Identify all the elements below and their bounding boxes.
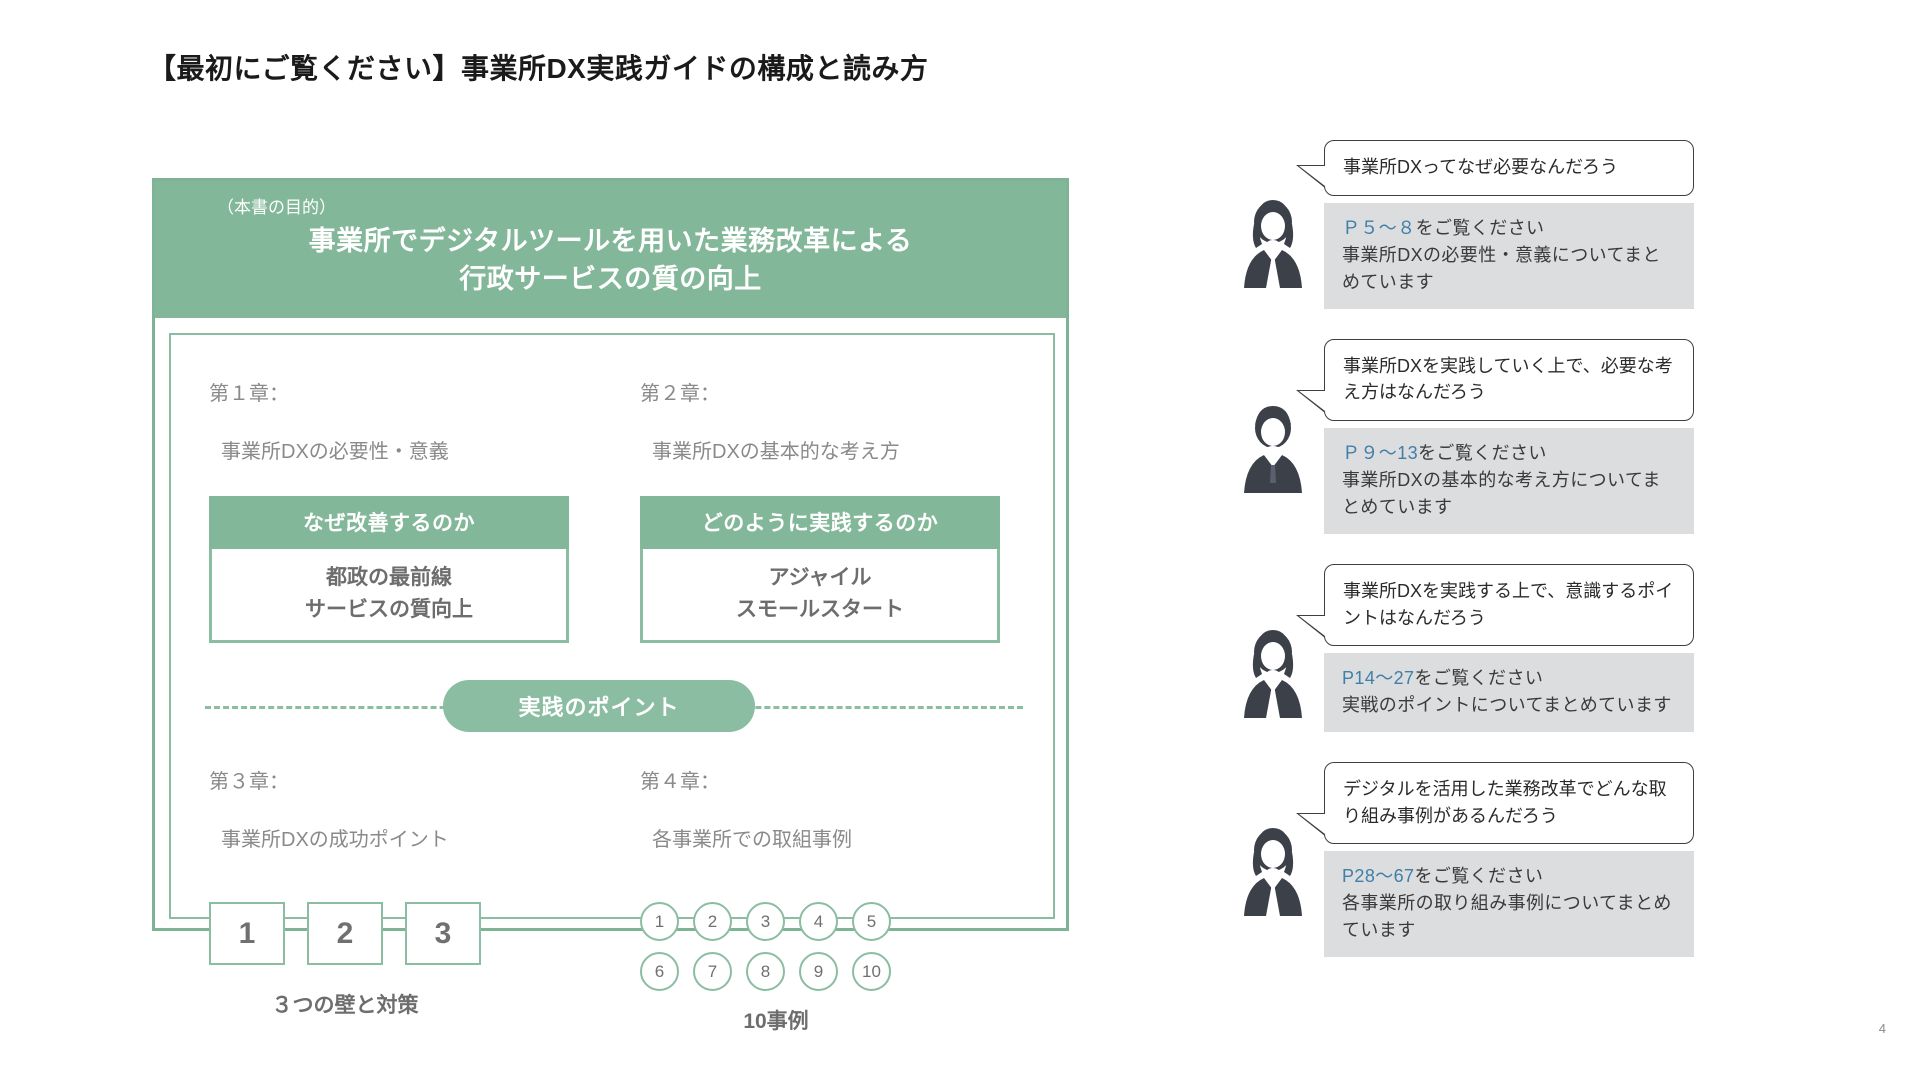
page-title: 【最初にご覧ください】事業所DX実践ガイドの構成と読み方 <box>148 47 928 87</box>
chapter-2-keyword-2: スモールスタート <box>736 598 904 621</box>
chapter-4-block: 第４章： 各事業所での取組事例 1 2 3 4 5 6 7 8 <box>640 739 1030 1035</box>
chapter-3-number: 第３章： <box>209 768 589 797</box>
qa-group: デジタルを活用した業務改革でどんな取り組み事例があるんだろう P28～67をご覧… <box>1228 762 1888 957</box>
case-circle: 8 <box>746 952 785 991</box>
case-circle: 5 <box>852 902 891 941</box>
purpose-line-2: 行政サービスの質の向上 <box>459 264 762 294</box>
chapter-1-keywords: 都政の最前線 サービスの質向上 <box>209 549 569 643</box>
practice-points-pill: 実践のポイント <box>443 680 755 732</box>
man-avatar-icon <box>1234 403 1312 493</box>
answer-page-tail: をご覧ください <box>1418 443 1547 463</box>
answer-page-range: Ｐ５～８ <box>1342 218 1416 238</box>
slide-root: 【最初にご覧ください】事業所DX実践ガイドの構成と読み方 （本書の目的） 事業所… <box>0 0 1920 1080</box>
chapter-2-block: 第２章： 事業所DXの基本的な考え方 どのように実践するのか アジャイル スモー… <box>640 351 1000 643</box>
answer-panel: P14～27をご覧ください 実戦のポイントについてまとめています <box>1324 653 1694 732</box>
chapter-3-caption: ３つの壁と対策 <box>209 989 481 1019</box>
purpose-line-1: 事業所でデジタルツールを用いた業務改革による <box>309 226 913 256</box>
number-box: 3 <box>405 902 481 965</box>
question-bubble: デジタルを活用した業務改革でどんな取り組み事例があるんだろう <box>1324 762 1694 844</box>
purpose-banner: （本書の目的） 事業所でデジタルツールを用いた業務改革による 行政サービスの質の… <box>155 181 1066 318</box>
chapter-2-bar-label: どのように実践するのか <box>640 496 1000 549</box>
chapter-1-number: 第１章： <box>209 380 569 409</box>
case-circle-row: 6 7 8 9 10 <box>640 952 1030 991</box>
chapter-1-bar-label: なぜ改善するのか <box>209 496 569 549</box>
chapters-area: 第１章： 事業所DXの必要性・意義 なぜ改善するのか 都政の最前線 サービスの質… <box>169 333 1055 919</box>
question-bubble: 事業所DXってなぜ必要なんだろう <box>1324 140 1694 196</box>
chapter-4-subtitle: 各事業所での取組事例 <box>640 826 1030 855</box>
chapter-1-keyword-2: サービスの質向上 <box>305 598 473 621</box>
qa-group: 事業所DXってなぜ必要なんだろう Ｐ５～８をご覧ください 事業所DXの必要性・意… <box>1228 140 1888 309</box>
answer-page-tail: をご覧ください <box>1416 218 1545 238</box>
qa-column: 事業所DXってなぜ必要なんだろう Ｐ５～８をご覧ください 事業所DXの必要性・意… <box>1228 140 1888 987</box>
purpose-label: （本書の目的） <box>217 193 336 218</box>
answer-page-range: Ｐ９～13 <box>1342 443 1418 463</box>
answer-panel: Ｐ９～13をご覧ください 事業所DXの基本的な考え方についてまとめています <box>1324 428 1694 534</box>
case-circle-row: 1 2 3 4 5 <box>640 902 1030 941</box>
answer-page-tail: をご覧ください <box>1414 668 1543 688</box>
case-circle: 6 <box>640 952 679 991</box>
case-circle: 2 <box>693 902 732 941</box>
chapter-1-block: 第１章： 事業所DXの必要性・意義 なぜ改善するのか 都政の最前線 サービスの質… <box>209 351 569 643</box>
chapter-3-block: 第３章： 事業所DXの成功ポイント 1 2 3 ３つの壁と対策 <box>209 739 589 1019</box>
structure-diagram: （本書の目的） 事業所でデジタルツールを用いた業務改革による 行政サービスの質の… <box>152 178 1069 931</box>
case-circle: 3 <box>746 902 785 941</box>
chapter-1-heading: 第１章： 事業所DXの必要性・意義 <box>209 351 569 496</box>
woman-avatar-icon <box>1234 628 1312 718</box>
case-circle: 10 <box>852 952 891 991</box>
number-box: 2 <box>307 902 383 965</box>
question-bubble: 事業所DXを実践していく上で、必要な考え方はなんだろう <box>1324 339 1694 421</box>
question-bubble: 事業所DXを実践する上で、意識するポイントはなんだろう <box>1324 564 1694 646</box>
chapter-2-subtitle: 事業所DXの基本的な考え方 <box>640 438 1000 467</box>
qa-group: 事業所DXを実践する上で、意識するポイントはなんだろう P14～27をご覧くださ… <box>1228 564 1888 732</box>
answer-body: 実戦のポイントについてまとめています <box>1342 695 1672 715</box>
woman-avatar-icon <box>1234 826 1312 916</box>
chapter-2-keyword-1: アジャイル <box>768 566 871 589</box>
answer-panel: Ｐ５～８をご覧ください 事業所DXの必要性・意義についてまとめています <box>1324 203 1694 309</box>
answer-page-tail: をご覧ください <box>1414 866 1543 886</box>
chapter-4-case-circles: 1 2 3 4 5 6 7 8 9 10 <box>640 902 1030 991</box>
chapter-3-subtitle: 事業所DXの成功ポイント <box>209 826 589 855</box>
qa-group: 事業所DXを実践していく上で、必要な考え方はなんだろう Ｐ９～13をご覧ください… <box>1228 339 1888 534</box>
number-box: 1 <box>209 902 285 965</box>
chapter-3-heading: 第３章： 事業所DXの成功ポイント <box>209 739 589 884</box>
case-circle: 1 <box>640 902 679 941</box>
purpose-statement: 事業所でデジタルツールを用いた業務改革による 行政サービスの質の向上 <box>155 222 1066 299</box>
woman-avatar-icon <box>1234 198 1312 288</box>
page-number: 4 <box>1879 1021 1886 1036</box>
answer-page-range: P14～27 <box>1342 668 1414 688</box>
chapter-1-subtitle: 事業所DXの必要性・意義 <box>209 438 569 467</box>
chapter-1-keyword-1: 都政の最前線 <box>326 566 452 589</box>
case-circle: 9 <box>799 952 838 991</box>
case-circle: 4 <box>799 902 838 941</box>
case-circle: 7 <box>693 952 732 991</box>
answer-page-range: P28～67 <box>1342 866 1414 886</box>
chapter-4-caption: 10事例 <box>640 1005 912 1035</box>
chapter-2-heading: 第２章： 事業所DXの基本的な考え方 <box>640 351 1000 496</box>
chapter-2-number: 第２章： <box>640 380 1000 409</box>
chapter-4-heading: 第４章： 各事業所での取組事例 <box>640 739 1030 884</box>
answer-panel: P28～67をご覧ください 各事業所の取り組み事例についてまとめています <box>1324 851 1694 957</box>
answer-body: 事業所DXの必要性・意義についてまとめています <box>1342 245 1661 292</box>
chapter-3-number-boxes: 1 2 3 <box>209 902 589 965</box>
chapter-2-keywords: アジャイル スモールスタート <box>640 549 1000 643</box>
chapter-4-number: 第４章： <box>640 768 1030 797</box>
answer-body: 各事業所の取り組み事例についてまとめています <box>1342 893 1672 940</box>
answer-body: 事業所DXの基本的な考え方についてまとめています <box>1342 470 1661 517</box>
